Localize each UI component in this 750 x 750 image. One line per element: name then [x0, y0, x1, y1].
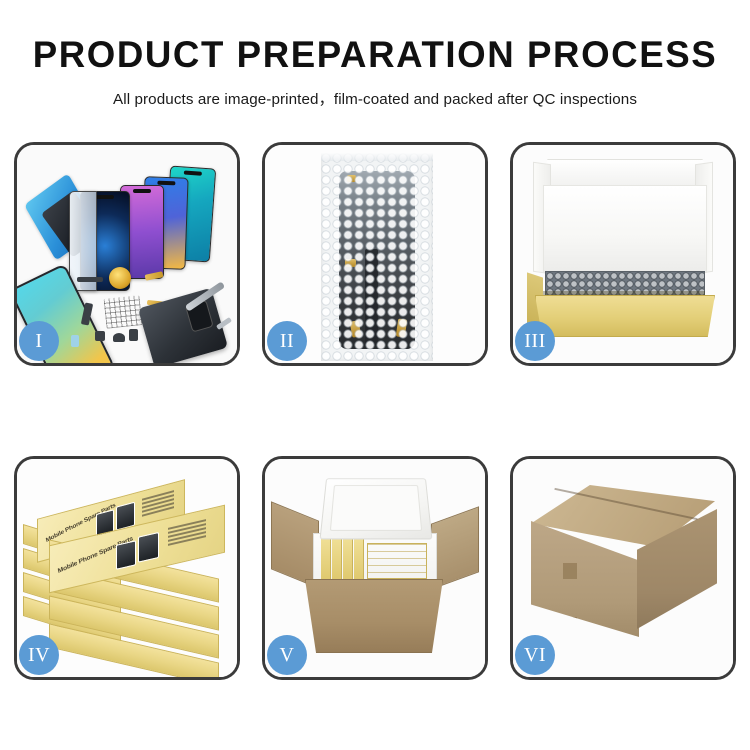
- carton-body-icon: [305, 579, 443, 653]
- notch-icon: [184, 170, 202, 175]
- step-badge-5: V: [267, 635, 307, 675]
- box-stack: Mobile Phone Spare Parts: [23, 481, 233, 667]
- step-panel-2[interactable]: II: [262, 142, 488, 366]
- step-panel-5[interactable]: V: [262, 456, 488, 680]
- yellow-box-edge: [343, 539, 353, 579]
- sim-tray-icon: [71, 335, 79, 347]
- process-steps-grid: I II: [14, 142, 736, 680]
- phone-back-cover-icon: [138, 288, 228, 363]
- step-badge-3: III: [515, 321, 555, 361]
- yellow-boxes-stacked: [367, 543, 427, 579]
- small-part-icon: [77, 277, 103, 282]
- step-panel-6[interactable]: VI: [510, 456, 736, 680]
- step-panel-1[interactable]: I: [14, 142, 240, 366]
- yellow-box-edge: [354, 539, 364, 579]
- page-subtitle: All products are image-printed，film-coat…: [0, 87, 750, 109]
- box-label-lines: [168, 519, 206, 548]
- box-label-lines: [142, 490, 174, 519]
- yellow-box-edge: [332, 539, 342, 579]
- bag-seal-icon: [321, 153, 433, 161]
- step-panel-4[interactable]: Mobile Phone Spare Parts: [14, 456, 240, 680]
- step-badge-6: VI: [515, 635, 555, 675]
- carton-flap-left-icon: [271, 501, 319, 588]
- tempered-glass-icon: [69, 191, 97, 291]
- camera-part-icon: [129, 329, 138, 341]
- box-label-phone-image: [116, 540, 136, 570]
- step-panel-3[interactable]: III: [510, 142, 736, 366]
- button-part-icon: [95, 331, 105, 341]
- notch-icon: [96, 195, 114, 199]
- carton-flap-right-icon: [431, 506, 479, 589]
- chip-array-icon: [104, 295, 143, 329]
- page-title: PRODUCT PREPARATION PROCESS: [4, 36, 747, 75]
- foam-lid-icon: [320, 478, 433, 539]
- bubble-texture-icon: [321, 153, 433, 361]
- foam-lid-inner: [330, 485, 422, 531]
- box-front-icon: [535, 295, 715, 337]
- bubble-wrap-bag-icon: [321, 153, 433, 361]
- yellow-box-edge: [321, 539, 331, 579]
- yellow-boxes-group: [321, 539, 427, 579]
- product-preparation-process-infographic: PRODUCT PREPARATION PROCESS All products…: [0, 0, 750, 750]
- vibration-motor-icon: [109, 267, 131, 289]
- notch-icon: [133, 189, 151, 193]
- box-label-phone-image: [138, 532, 159, 563]
- step-badge-1: I: [19, 321, 59, 361]
- foam-sheet-icon: [543, 185, 707, 273]
- header: PRODUCT PREPARATION PROCESS All products…: [0, 36, 750, 109]
- step-badge-2: II: [267, 321, 307, 361]
- step-badge-4: IV: [19, 635, 59, 675]
- tape-strip-icon: [563, 617, 577, 633]
- tape-strip-icon: [563, 563, 577, 579]
- speaker-part-icon: [113, 333, 125, 342]
